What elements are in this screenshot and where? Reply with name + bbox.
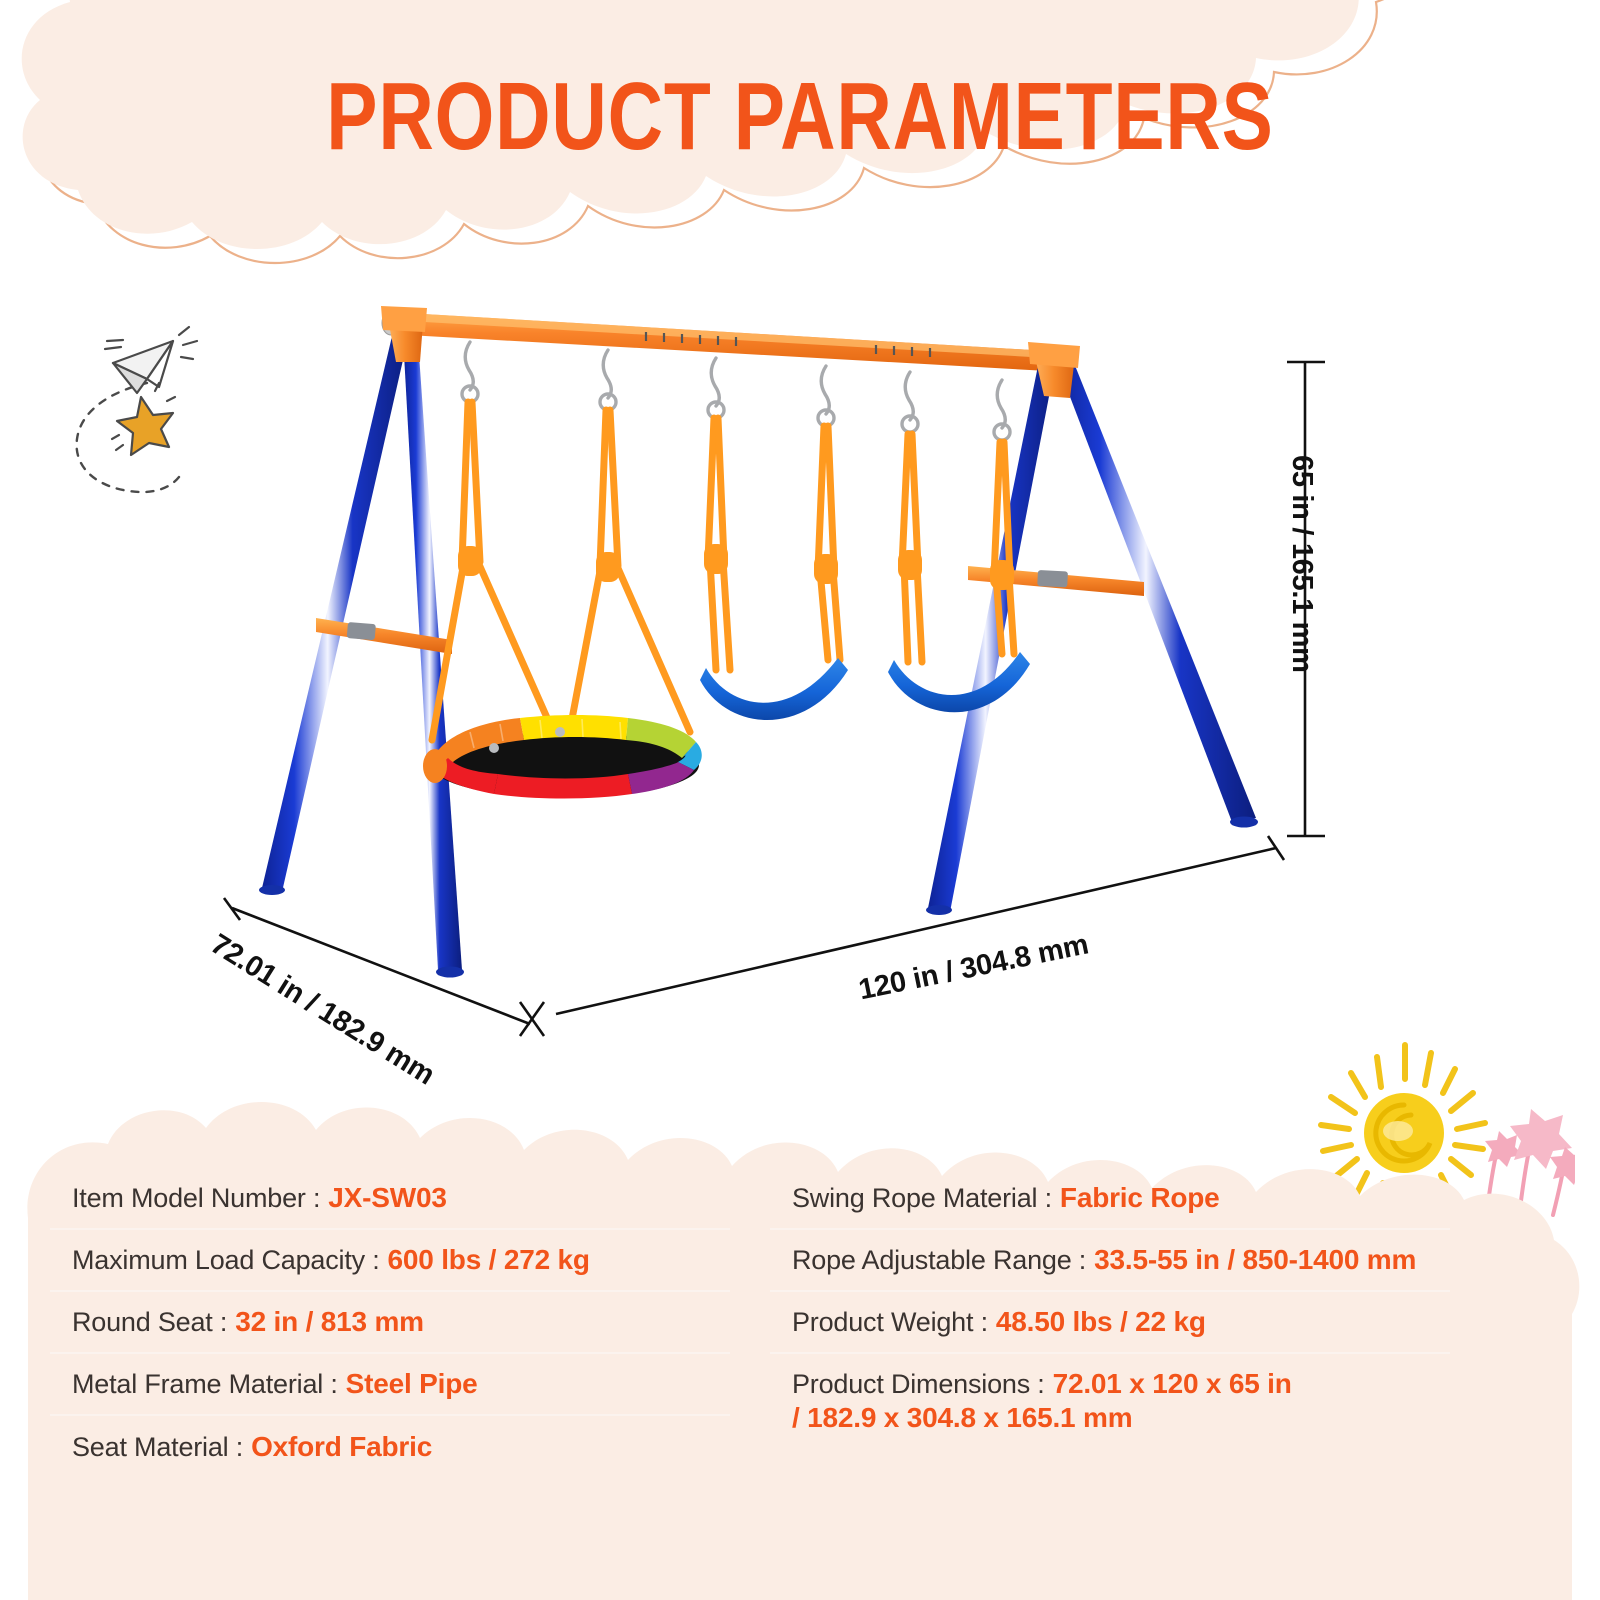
dimension-lines (224, 362, 1325, 1036)
spec-row: Round Seat : 32 in / 813 mm (50, 1292, 730, 1354)
spec-row: Swing Rope Material : Fabric Rope (770, 1168, 1450, 1230)
spec-value: 72.01 x 120 x 65 in (1053, 1368, 1292, 1400)
spec-row: Product Dimensions : 72.01 x 120 x 65 in… (770, 1354, 1450, 1448)
spec-label: Round Seat : (72, 1307, 227, 1338)
spec-row: Metal Frame Material : Steel Pipe (50, 1354, 730, 1416)
belt-swing-seat-1 (700, 658, 848, 720)
spec-value: Fabric Rope (1060, 1182, 1220, 1214)
spec-row: Seat Material : Oxford Fabric (50, 1416, 730, 1478)
spec-value: 48.50 lbs / 22 kg (996, 1306, 1206, 1338)
rope-adjusters (458, 544, 1014, 590)
spec-row: Rope Adjustable Range : 33.5-55 in / 850… (770, 1230, 1450, 1292)
spec-value: 33.5-55 in / 850-1400 mm (1094, 1244, 1416, 1276)
left-a-frame (259, 306, 464, 978)
spec-row: Product Weight : 48.50 lbs / 22 kg (770, 1292, 1450, 1354)
spec-label: Swing Rope Material : (792, 1183, 1052, 1214)
spec-panel: Item Model Number : JX-SW03 Maximum Load… (0, 1100, 1600, 1600)
spec-label: Product Weight : (792, 1307, 988, 1338)
page-title: PRODUCT PARAMETERS (160, 62, 1440, 172)
spec-label: Rope Adjustable Range : (792, 1245, 1086, 1276)
spec-row: Item Model Number : JX-SW03 (50, 1168, 730, 1230)
spec-row: Maximum Load Capacity : 600 lbs / 272 kg (50, 1230, 730, 1292)
spec-label: Item Model Number : (72, 1183, 320, 1214)
spec-label: Metal Frame Material : (72, 1369, 338, 1400)
spec-column-left: Item Model Number : JX-SW03 Maximum Load… (40, 1168, 740, 1478)
saucer-swing-seat (423, 715, 702, 799)
infographic-page: PRODUCT PARAMETERS (0, 0, 1600, 1600)
dimension-height-label: 65 in / 165.1 mm (1285, 455, 1318, 673)
spec-value: 600 lbs / 272 kg (388, 1244, 590, 1276)
right-a-frame (926, 342, 1258, 915)
spec-label: Seat Material : (72, 1432, 243, 1463)
spec-value-continued: / 182.9 x 304.8 x 165.1 mm (792, 1402, 1430, 1434)
spec-label: Maximum Load Capacity : (72, 1245, 380, 1276)
top-beam (382, 311, 1066, 372)
spec-value: JX-SW03 (328, 1182, 446, 1214)
spec-label: Product Dimensions : (792, 1369, 1045, 1400)
spec-value: Oxford Fabric (251, 1431, 432, 1463)
spec-value: 32 in / 813 mm (235, 1306, 424, 1338)
spec-column-right: Swing Rope Material : Fabric Rope Rope A… (760, 1168, 1460, 1478)
spec-value: Steel Pipe (346, 1368, 478, 1400)
